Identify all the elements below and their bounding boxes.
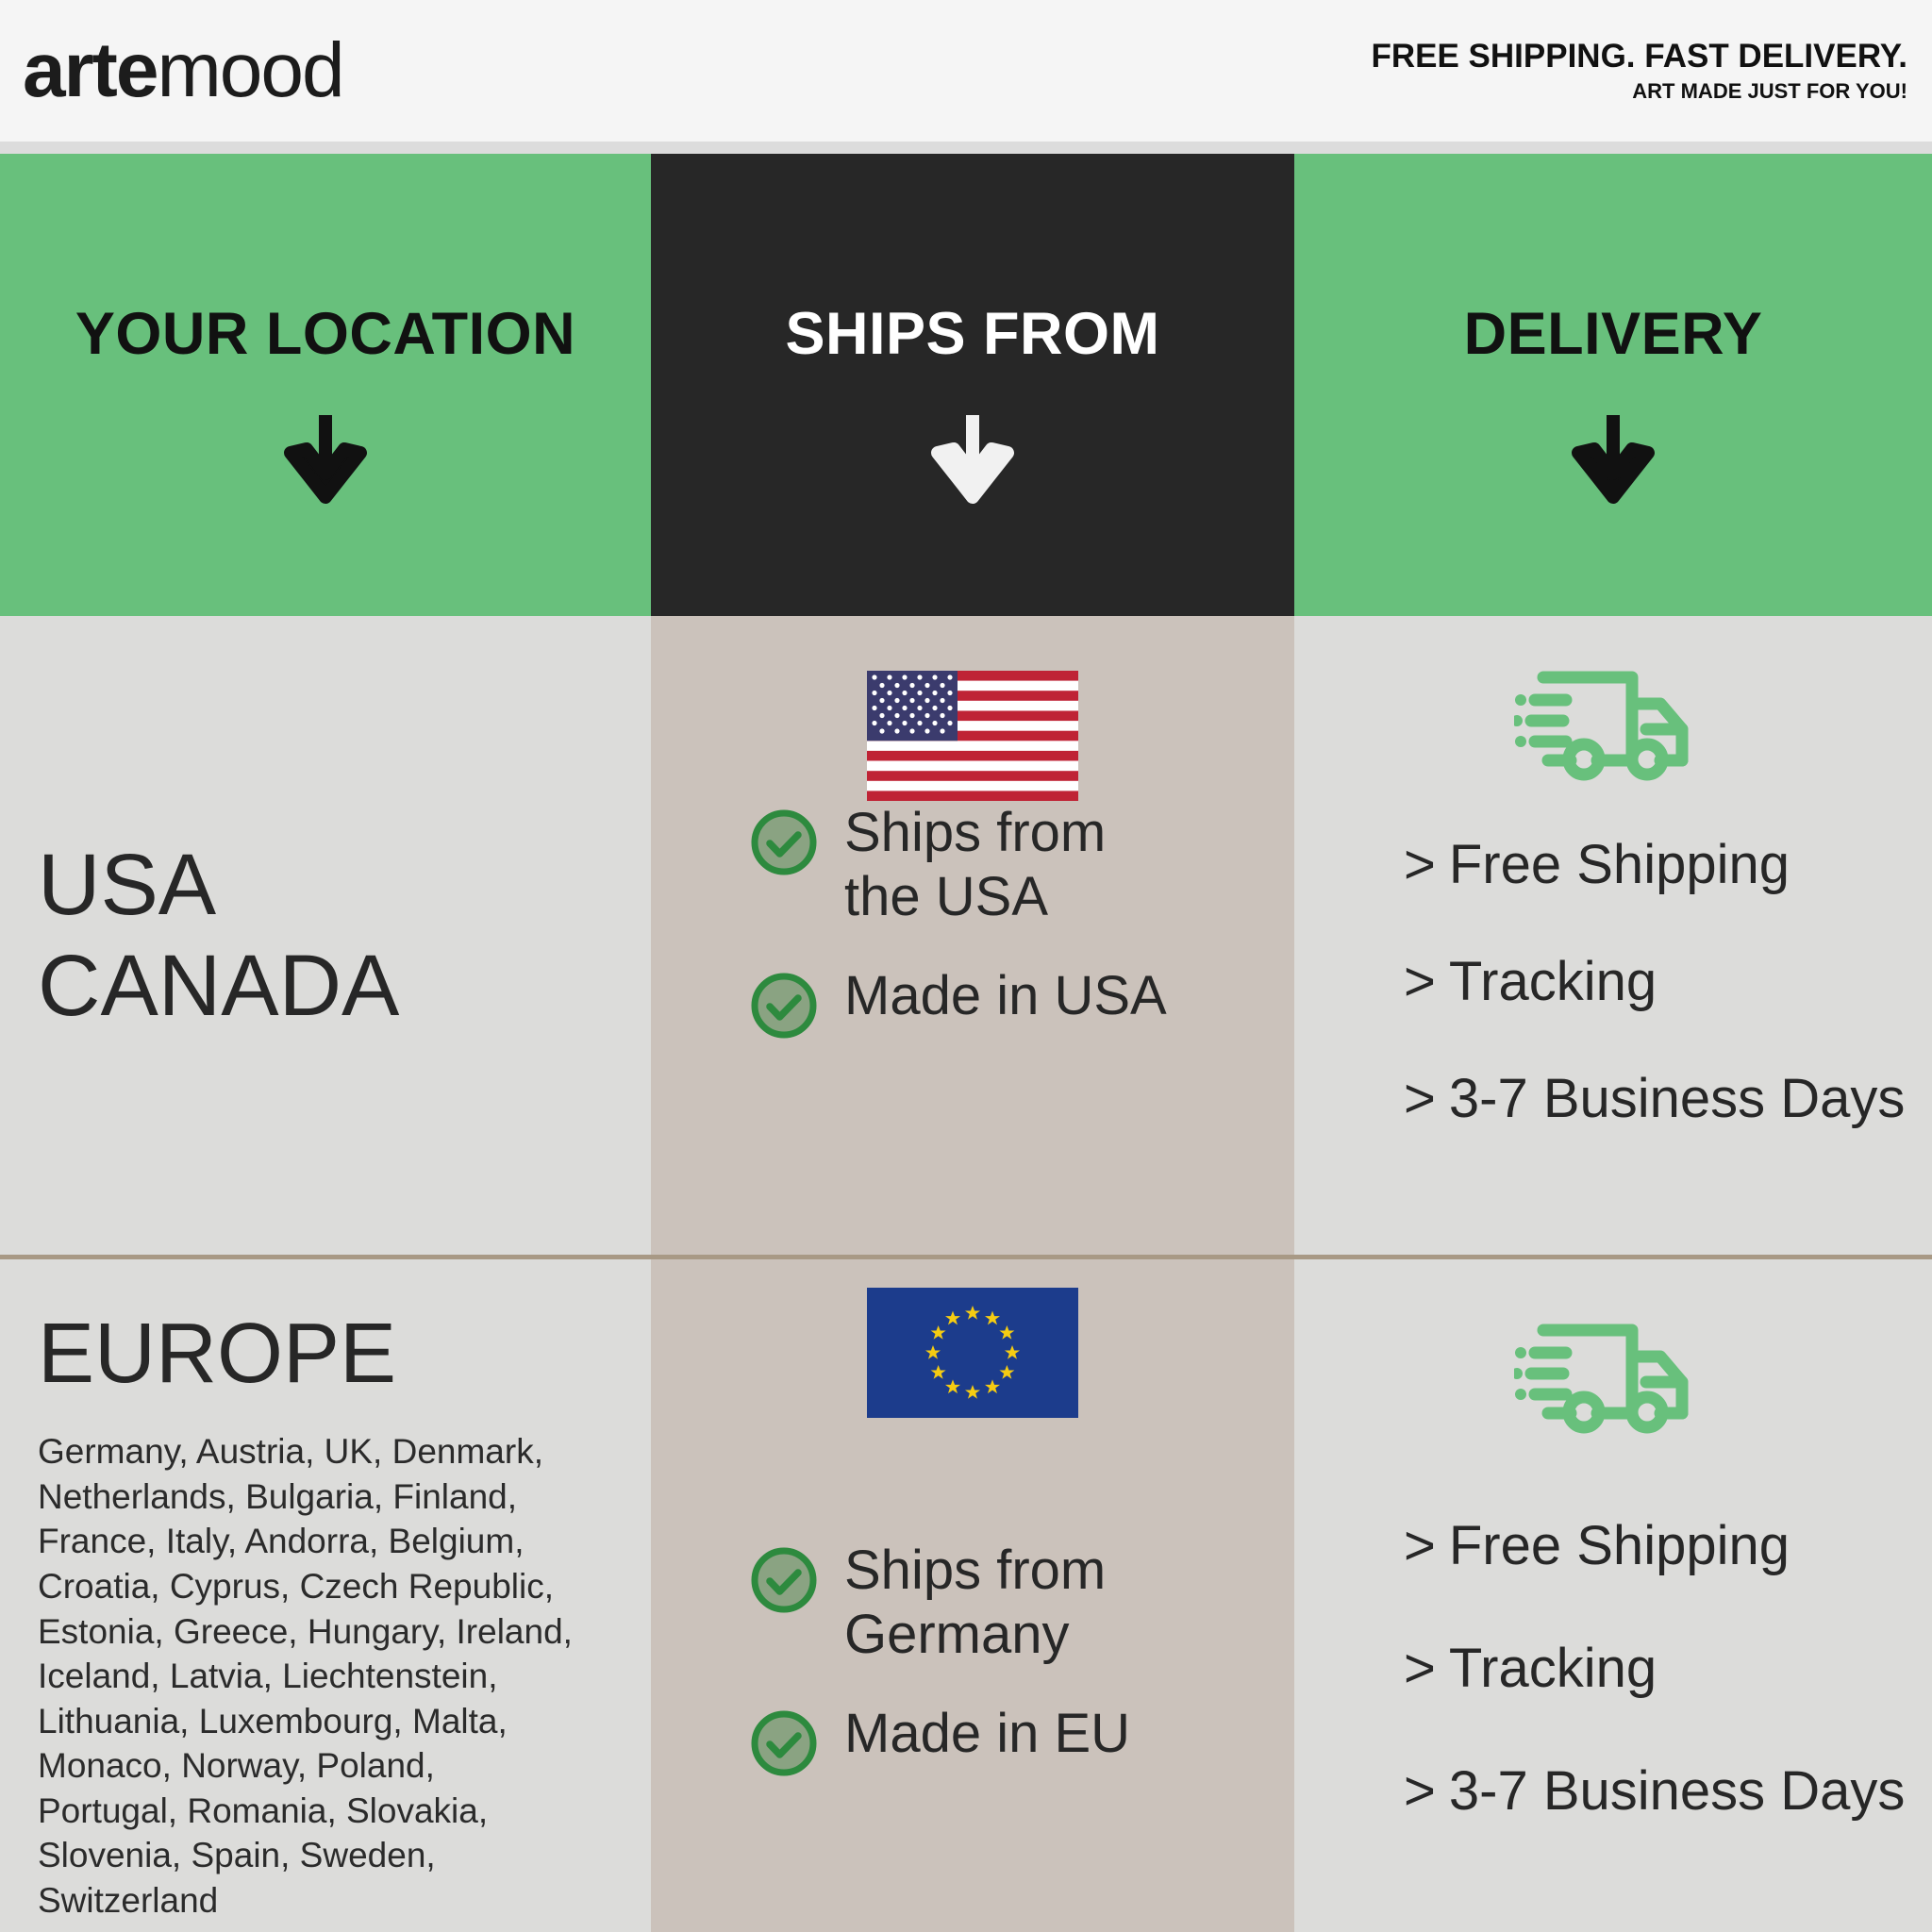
tagline-secondary: ART MADE JUST FOR YOU! <box>1371 80 1907 103</box>
column-title-your-location: YOUR LOCATION <box>75 300 575 368</box>
logo-bold-part: arte <box>23 27 157 113</box>
delivery-feature-label: Tracking <box>1449 951 1657 1012</box>
check-label: Ships from the USA <box>844 801 1106 930</box>
list-item: >Tracking <box>1404 1641 1932 1696</box>
table-row-europe-location-cell: EUROPE Germany, Austria, UK, Denmark, Ne… <box>0 1259 651 1932</box>
country-line: Iceland, Latvia, Liechtenstein, <box>38 1654 651 1699</box>
country-line: Portugal, Romania, Slovakia, <box>38 1789 651 1834</box>
list-item: >Free Shipping <box>1404 1519 1932 1574</box>
check-label: Made in USA <box>844 964 1167 1028</box>
delivery-feature-label: Tracking <box>1449 1638 1657 1699</box>
delivery-feature-label: 3-7 Business Days <box>1449 1068 1906 1129</box>
shipping-table: USA CANADA <box>0 616 1932 1932</box>
delivery-feature-label: 3-7 Business Days <box>1449 1760 1906 1822</box>
country-line: Switzerland <box>38 1878 651 1924</box>
list-item: >Tracking <box>1404 955 1932 1009</box>
check-circle-icon <box>748 807 820 883</box>
country-line: Germany, Austria, UK, Denmark, <box>38 1429 651 1474</box>
list-item: Ships from the USA <box>748 801 1294 930</box>
chevron-right-icon: > <box>1404 1515 1436 1576</box>
delivery-feature-label: Free Shipping <box>1449 1515 1790 1576</box>
brand-header: artemood FREE SHIPPING. FAST DELIVERY. A… <box>0 0 1932 142</box>
chevron-right-icon: > <box>1404 1638 1436 1699</box>
chevron-right-icon: > <box>1404 834 1436 895</box>
ships-from-check-list: Ships from Germany Made in EU <box>651 1539 1294 1784</box>
location-name: EUROPE <box>38 1305 651 1403</box>
column-header-band: YOUR LOCATION SHIPS FROM DELIVERY <box>0 154 1932 616</box>
country-line: Estonia, Greece, Hungary, Ireland, <box>38 1609 651 1655</box>
europe-country-list: Germany, Austria, UK, Denmark, Netherlan… <box>38 1429 651 1923</box>
header-tagline-block: FREE SHIPPING. FAST DELIVERY. ART MADE J… <box>1371 39 1907 103</box>
tagline-primary: FREE SHIPPING. FAST DELIVERY. <box>1371 39 1907 75</box>
table-row-europe-ships-from-cell: Ships from Germany Made in EU <box>651 1259 1294 1932</box>
table-row-europe-delivery-cell: >Free Shipping >Tracking >3-7 Business D… <box>1294 1259 1932 1932</box>
location-name: CANADA <box>38 936 651 1037</box>
country-line: France, Italy, Andorra, Belgium, <box>38 1519 651 1564</box>
delivery-feature-list: >Free Shipping >Tracking >3-7 Business D… <box>1294 1519 1932 1819</box>
column-title-ships-from: SHIPS FROM <box>785 300 1159 368</box>
chevron-right-icon: > <box>1404 1068 1436 1129</box>
country-line: Lithuania, Luxembourg, Malta, <box>38 1699 651 1744</box>
column-header-delivery: DELIVERY <box>1294 154 1932 616</box>
down-arrow-icon <box>921 408 1024 516</box>
down-arrow-icon <box>274 408 377 516</box>
shipping-info-infographic: artemood FREE SHIPPING. FAST DELIVERY. A… <box>0 0 1932 1932</box>
location-name: USA <box>38 835 651 936</box>
column-header-your-location: YOUR LOCATION <box>0 154 651 616</box>
country-line: Monaco, Norway, Poland, <box>38 1743 651 1789</box>
list-item: >3-7 Business Days <box>1404 1072 1932 1126</box>
artemood-logo: artemood <box>23 32 343 109</box>
list-item: Ships from Germany <box>748 1539 1294 1668</box>
eu-flag-icon <box>867 1288 1078 1418</box>
country-line: Netherlands, Bulgaria, Finland, <box>38 1474 651 1520</box>
list-item: Made in USA <box>748 964 1294 1046</box>
table-row-usa-delivery-cell: >Free Shipping >Tracking >3-7 Business D… <box>1294 616 1932 1255</box>
list-item: >Free Shipping <box>1404 838 1932 892</box>
table-row-usa-ships-from-cell: Ships from the USA Made in USA <box>651 616 1294 1255</box>
down-arrow-icon <box>1561 408 1665 516</box>
delivery-feature-label: Free Shipping <box>1449 834 1790 895</box>
header-divider <box>0 142 1932 154</box>
list-item: >3-7 Business Days <box>1404 1764 1932 1819</box>
check-circle-icon <box>748 1707 820 1784</box>
check-label: Made in EU <box>844 1702 1130 1766</box>
chevron-right-icon: > <box>1404 951 1436 1012</box>
delivery-truck-icon <box>1514 661 1712 789</box>
table-row-usa-location-cell: USA CANADA <box>0 616 651 1255</box>
check-circle-icon <box>748 1544 820 1621</box>
column-title-delivery: DELIVERY <box>1464 300 1763 368</box>
delivery-truck-icon <box>1514 1314 1712 1441</box>
column-header-ships-from: SHIPS FROM <box>651 154 1294 616</box>
logo-regular-part: mood <box>157 27 342 113</box>
country-line: Croatia, Cyprus, Czech Republic, <box>38 1564 651 1609</box>
chevron-right-icon: > <box>1404 1760 1436 1822</box>
check-label: Ships from Germany <box>844 1539 1106 1668</box>
list-item: Made in EU <box>748 1702 1294 1784</box>
check-circle-icon <box>748 970 820 1046</box>
country-line: Slovenia, Spain, Sweden, <box>38 1833 651 1878</box>
delivery-feature-list: >Free Shipping >Tracking >3-7 Business D… <box>1294 838 1932 1126</box>
ships-from-check-list: Ships from the USA Made in USA <box>651 801 1294 1046</box>
us-flag-icon <box>867 671 1078 801</box>
